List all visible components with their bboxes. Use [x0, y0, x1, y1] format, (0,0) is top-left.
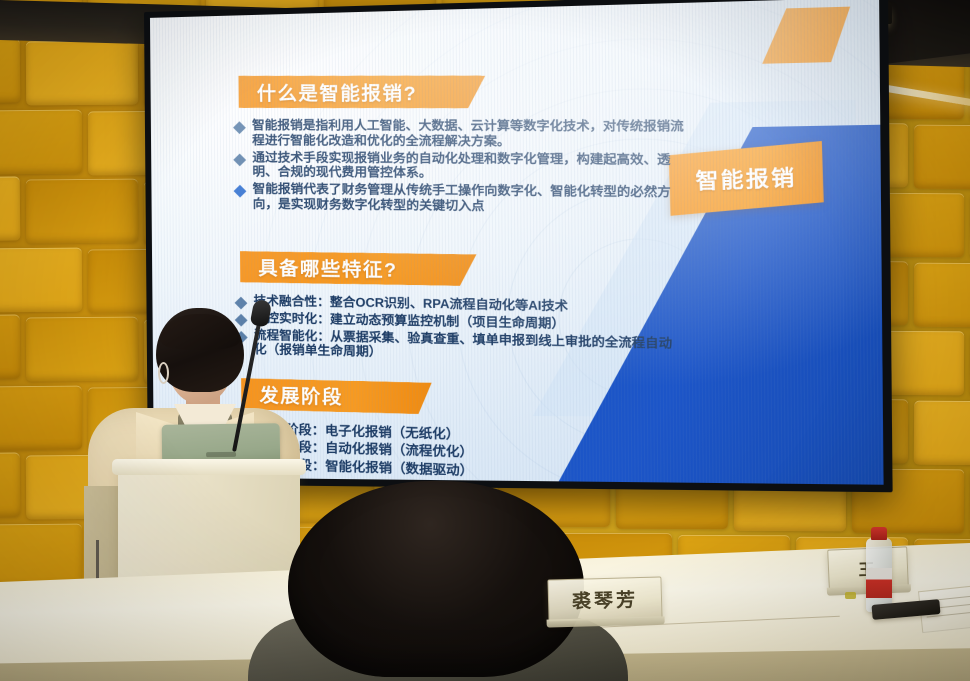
bullet-diamond-icon: [235, 297, 248, 310]
paper-clip-icon: [845, 592, 856, 599]
bullet-diamond-icon: [233, 121, 246, 134]
wall-panel: [0, 453, 20, 518]
wall-panel: [0, 177, 20, 242]
earring-icon: [158, 362, 169, 384]
wall-panel: [914, 401, 970, 466]
slide-section-heading-1: 什么是智能报销?: [238, 75, 485, 108]
slide-section-bullets-1: 智能报销是指利用人工智能、大数据、云计算等数字化技术，对传统报销流程进行智能化改…: [235, 118, 696, 218]
conference-room-photo: 智能报销 什么是智能报销? 智能报销是指利用人工智能、大数据、云计算等数字化技术…: [0, 0, 970, 681]
wall-panel: [0, 385, 82, 450]
name-placard-1: 裘琴芳: [547, 576, 662, 621]
slide-bullet-text: 流程智能化：从票据采集、验真查重、填单申报到线上审批的全流程自动化（报销单生命周…: [254, 327, 676, 366]
wall-panel: [0, 247, 82, 312]
slide-bullet-text: 智能报销是指利用人工智能、大数据、云计算等数字化技术，对传统报销流程进行智能化改…: [252, 118, 695, 150]
name-placard-1-label: 裘琴芳: [572, 585, 639, 614]
wall-panel: [26, 41, 138, 106]
wall-panel: [26, 317, 138, 382]
slide-section-bullets-2: 技术融合性：整合OCR识别、RPA流程自动化等AI技术管控实时化：建立动态预算监…: [236, 293, 675, 368]
slide-section-heading-3: 发展阶段: [241, 378, 432, 414]
wall-panel: [0, 109, 82, 174]
wall-panel: [914, 125, 970, 190]
bullet-diamond-icon: [234, 185, 247, 198]
slide-bullet-text: 通过技术手段实现报销业务的自动化处理和数字化管理，构建起高效、透明、合规的现代费…: [252, 150, 695, 183]
wall-panel: [914, 263, 970, 328]
slide-bullet: 智能报销是指利用人工智能、大数据、云计算等数字化技术，对传统报销流程进行智能化改…: [235, 118, 695, 150]
wall-panel: [26, 179, 138, 244]
water-bottle-cap: [871, 527, 887, 540]
bullet-diamond-icon: [235, 314, 248, 327]
audience-hair: [288, 481, 584, 677]
laptop-logo: [206, 452, 236, 457]
slide-bullet: 流程智能化：从票据采集、验真查重、填单申报到线上审批的全流程自动化（报销单生命周…: [237, 327, 676, 366]
wall-panel: [0, 315, 20, 380]
audience-member: [288, 481, 584, 681]
water-bottle: [866, 538, 892, 612]
water-bottle-label: [866, 568, 892, 598]
slide-section-bullets-3: 1.0阶段：电子化报销（无纸化）2.0阶段：自动化报销（流程优化）3.0阶段：智…: [250, 421, 668, 485]
wall-panel: [0, 39, 20, 104]
slide-bullet: 智能报销代表了财务管理从传统手工操作向数字化、智能化转型的必然方向，是实现财务数…: [235, 182, 696, 216]
podium-top-surface: [112, 459, 306, 475]
slide-bullet: 通过技术手段实现报销业务的自动化处理和数字化管理，构建起高效、透明、合规的现代费…: [235, 150, 696, 183]
wall-panel: [0, 523, 82, 588]
slide-bullet-text: 智能报销代表了财务管理从传统手工操作向数字化、智能化转型的必然方向，是实现财务数…: [253, 182, 696, 216]
bullet-diamond-icon: [233, 153, 246, 166]
slide-section-heading-2: 具备哪些特征?: [240, 251, 477, 286]
